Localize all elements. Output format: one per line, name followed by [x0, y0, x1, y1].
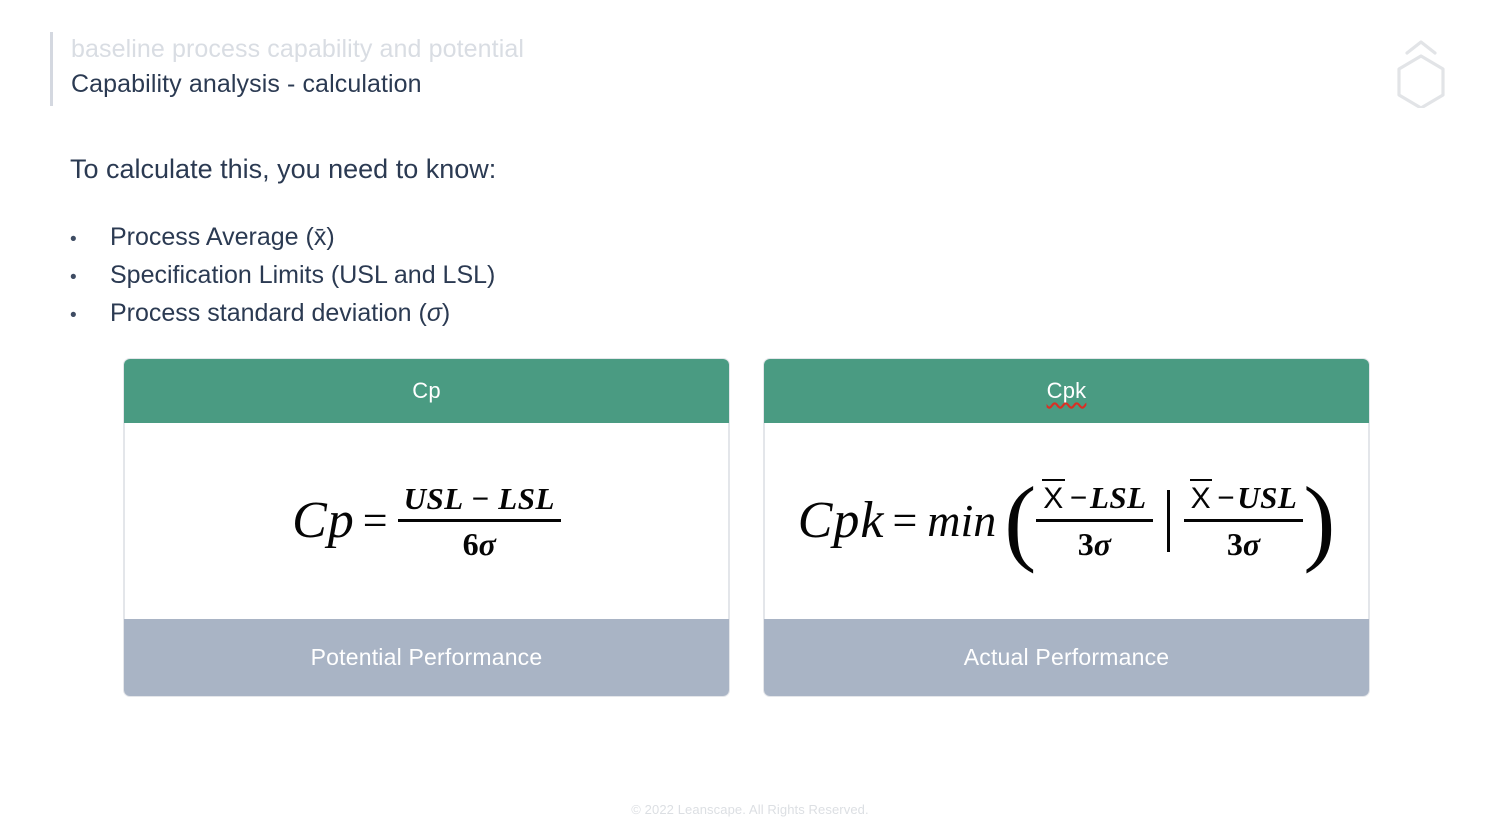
formula-cpk: Cpk = min ( X−LSL 3σ X−USL [798, 482, 1336, 561]
formula-cp: Cp = USL − LSL 6σ [292, 483, 561, 560]
card-cp-footer: Potential Performance [124, 619, 729, 696]
requirements-list: • Process Average (x̄) • Specification L… [70, 220, 495, 334]
formula-cpk-equals: = [892, 499, 917, 543]
formula-cpk-separator-bar [1167, 490, 1170, 552]
header-text-block: baseline process capability and potentia… [53, 32, 524, 106]
card-cp: Cp Cp = USL − LSL 6σ Potential Performan… [124, 359, 729, 696]
formula-cp-lead: Cp [292, 495, 355, 547]
list-item: • Specification Limits (USL and LSL) [70, 258, 495, 295]
list-item: • Process Average (x̄) [70, 220, 495, 257]
x-bar-symbol: X [1042, 484, 1065, 514]
bullet-marker: • [70, 261, 110, 295]
bullet-marker: • [70, 299, 110, 333]
slide: baseline process capability and potentia… [0, 0, 1500, 839]
leanscape-hexagon-logo [1390, 40, 1452, 108]
header-eyebrow: baseline process capability and potentia… [71, 32, 524, 66]
formula-cpk-terms: X−LSL 3σ X−USL 3σ [1036, 482, 1303, 560]
formula-cpk-right-denominator: 3σ [1221, 522, 1266, 560]
x-bar-symbol: X [1190, 484, 1213, 514]
list-item-label: Process standard deviation (σ) [110, 296, 450, 330]
card-cpk: Cpk Cpk = min ( X−LSL 3σ [764, 359, 1369, 696]
formula-cpk-open-paren: ( [1004, 482, 1036, 561]
formula-cpk-min-function: min [927, 498, 996, 544]
bullet-marker: • [70, 223, 110, 257]
card-cp-header: Cp [124, 359, 729, 423]
formula-cp-denominator: 6σ [457, 522, 502, 560]
formula-card-group: Cp Cp = USL − LSL 6σ Potential Performan… [124, 359, 1369, 696]
card-cp-header-label: Cp [412, 378, 441, 404]
lead-paragraph: To calculate this, you need to know: [70, 152, 496, 186]
formula-cpk-close-paren: ) [1303, 482, 1335, 561]
formula-cp-numerator: USL − LSL [398, 483, 561, 519]
card-cpk-footer-label: Actual Performance [964, 644, 1170, 671]
formula-cp-fraction: USL − LSL 6σ [398, 483, 561, 560]
formula-cpk-left-fraction: X−LSL 3σ [1036, 482, 1152, 560]
formula-cpk-left-denominator: 3σ [1072, 522, 1117, 560]
card-cp-footer-label: Potential Performance [311, 644, 543, 671]
formula-cpk-left-numerator: X−LSL [1036, 482, 1152, 519]
formula-cpk-right-fraction: X−USL 3σ [1184, 482, 1304, 560]
card-cpk-header: Cpk [764, 359, 1369, 423]
copyright-notice: © 2022 Leanscape. All Rights Reserved. [0, 802, 1500, 817]
formula-cpk-right-numerator: X−USL [1184, 482, 1304, 519]
slide-header: baseline process capability and potentia… [50, 32, 524, 106]
card-cpk-footer: Actual Performance [764, 619, 1369, 696]
formula-cp-equals: = [363, 499, 388, 543]
list-item-label: Process Average (x̄) [110, 220, 335, 254]
page-title: Capability analysis - calculation [71, 66, 524, 102]
card-cpk-body: Cpk = min ( X−LSL 3σ X−USL [764, 423, 1369, 619]
list-item-label: Specification Limits (USL and LSL) [110, 258, 495, 292]
card-cp-body: Cp = USL − LSL 6σ [124, 423, 729, 619]
formula-cpk-lead: Cpk [798, 495, 885, 547]
card-cpk-header-label: Cpk [1047, 378, 1087, 404]
list-item: • Process standard deviation (σ) [70, 296, 495, 333]
